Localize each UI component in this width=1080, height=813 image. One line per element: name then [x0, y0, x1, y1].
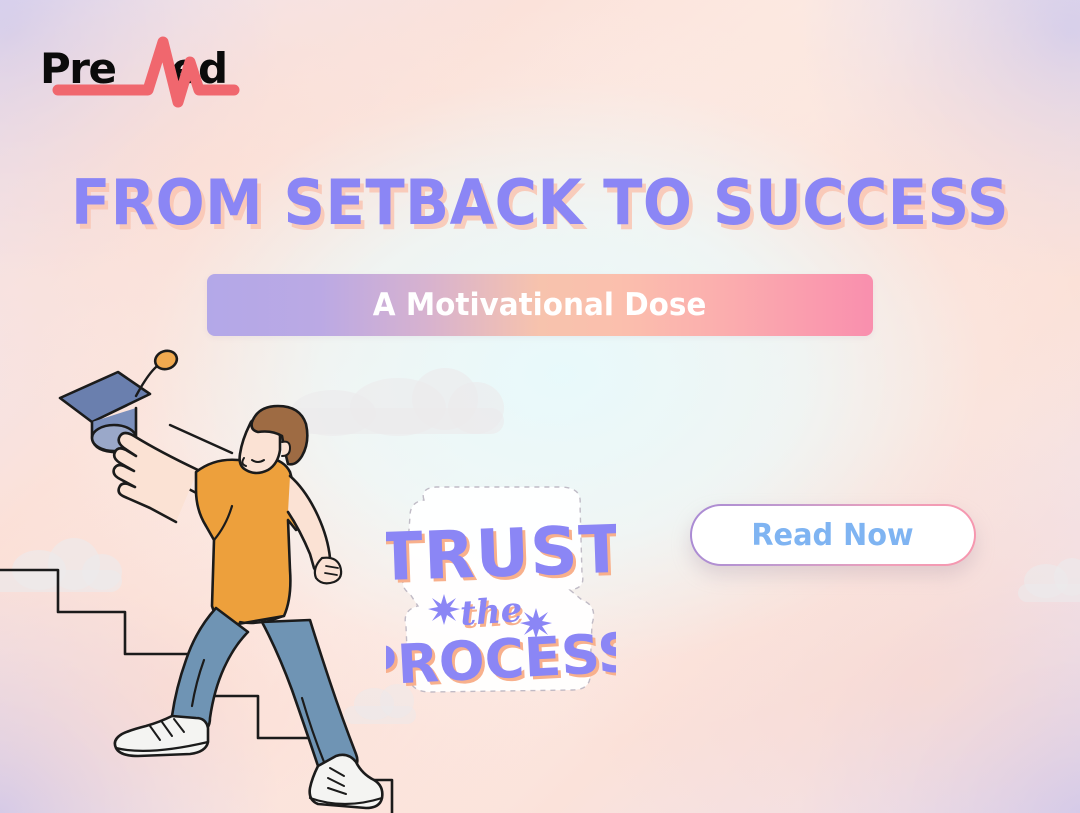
back-leg [172, 608, 248, 732]
sticker-line-process: PROCESS PROCESS [386, 621, 616, 702]
subtitle-banner: A Motivational Dose [207, 274, 873, 336]
back-shoe [115, 716, 208, 756]
cloud-right-small [1018, 558, 1080, 602]
climbing-stairs-illustration [0, 330, 420, 813]
torso-shirt [196, 458, 301, 624]
sticker-star-left [428, 594, 460, 625]
sticker-line-trust: TRUST TRUST [386, 511, 616, 600]
heartbeat-pulse-icon [38, 28, 253, 108]
poster-canvas: Pre ed FROM SETBACK TO SUCCESS A Motivat… [0, 0, 1080, 813]
read-now-button-surface[interactable]: Read Now [692, 506, 974, 564]
page-title: FROM SETBACK TO SUCCESS [38, 171, 1042, 235]
svg-text:TRUST: TRUST [386, 511, 616, 597]
trust-the-process-sticker: TRUST TRUST the the PROCESS PROCESS [386, 482, 616, 708]
subtitle-text: A Motivational Dose [373, 287, 707, 323]
front-leg [262, 620, 357, 776]
premed-logo[interactable]: Pre ed [38, 28, 253, 108]
read-now-label: Read Now [752, 518, 914, 553]
reaching-arm [114, 433, 198, 522]
read-now-button[interactable]: Read Now [690, 504, 976, 566]
